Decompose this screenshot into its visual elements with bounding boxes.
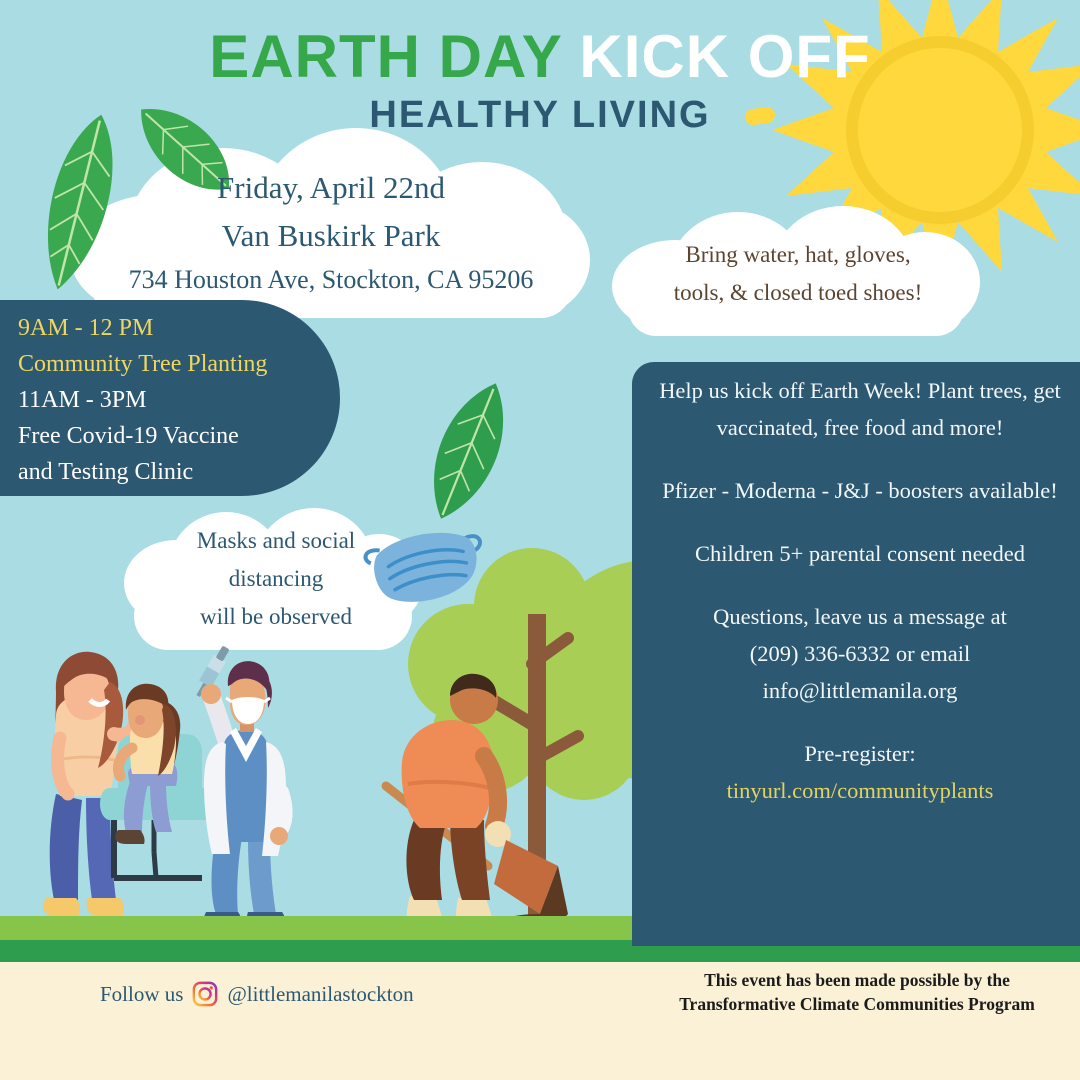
- headline-earth-day: EARTH DAY: [209, 23, 561, 90]
- follow-us-block: Follow us @littlemanilastockton: [100, 981, 414, 1007]
- headline-kick-off: KICK OFF: [579, 23, 870, 90]
- sponsor-note: This event has been made possible by the…: [640, 968, 1074, 1016]
- schedule-activity-1: Community Tree Planting: [18, 346, 348, 382]
- schedule-activity-2-line-1: Free Covid-19 Vaccine: [18, 418, 348, 454]
- bring-line-2: tools, & closed toed shoes!: [626, 274, 970, 312]
- instagram-handle[interactable]: @littlemanilastockton: [227, 982, 413, 1007]
- info-questions-line-1: Questions, leave us a message at: [646, 598, 1074, 635]
- sponsor-line-1: This event has been made possible by the: [640, 968, 1074, 992]
- leaf-icon: [408, 372, 528, 532]
- bring-items-text: Bring water, hat, gloves, tools, & close…: [626, 236, 970, 312]
- info-intro: Help us kick off Earth Week! Plant trees…: [646, 372, 1074, 446]
- schedule-time-1: 9AM - 12 PM: [18, 310, 348, 346]
- earth-day-flyer: EARTH DAY KICK OFF HEALTHY LIVING: [0, 0, 1080, 1080]
- sponsor-line-2: Transformative Climate Communities Progr…: [640, 992, 1074, 1016]
- prereg-label: Pre-register:: [646, 735, 1074, 772]
- event-details-text: Friday, April 22nd Van Buskirk Park 734 …: [96, 164, 566, 300]
- bring-line-1: Bring water, hat, gloves,: [626, 236, 970, 274]
- schedule-text: 9AM - 12 PM Community Tree Planting 11AM…: [18, 310, 348, 490]
- doctor-figure: [192, 644, 288, 932]
- info-consent: Children 5+ parental consent needed: [646, 535, 1074, 572]
- info-questions-line-2: (209) 336-6332 or email: [646, 635, 1074, 672]
- info-panel-text: Help us kick off Earth Week! Plant trees…: [646, 372, 1074, 809]
- prereg-url[interactable]: tinyurl.com/communityplants: [646, 772, 1074, 809]
- instagram-icon[interactable]: [192, 981, 218, 1007]
- event-date: Friday, April 22nd: [96, 164, 566, 212]
- headline-subtitle: HEALTHY LIVING: [0, 90, 1080, 140]
- face-mask-icon: [352, 512, 502, 622]
- schedule-time-2: 11AM - 3PM: [18, 382, 348, 418]
- event-address: 734 Houston Ave, Stockton, CA 95206: [96, 260, 566, 300]
- vaccination-illustration: [34, 642, 314, 942]
- info-questions-line-3: info@littlemanila.org: [646, 672, 1074, 709]
- event-venue: Van Buskirk Park: [96, 212, 566, 260]
- follow-us-label: Follow us: [100, 982, 183, 1007]
- schedule-activity-2-line-2: and Testing Clinic: [18, 454, 348, 490]
- info-vaccines: Pfizer - Moderna - J&J - boosters availa…: [646, 472, 1074, 509]
- page-title: EARTH DAY KICK OFF HEALTHY LIVING: [0, 24, 1080, 140]
